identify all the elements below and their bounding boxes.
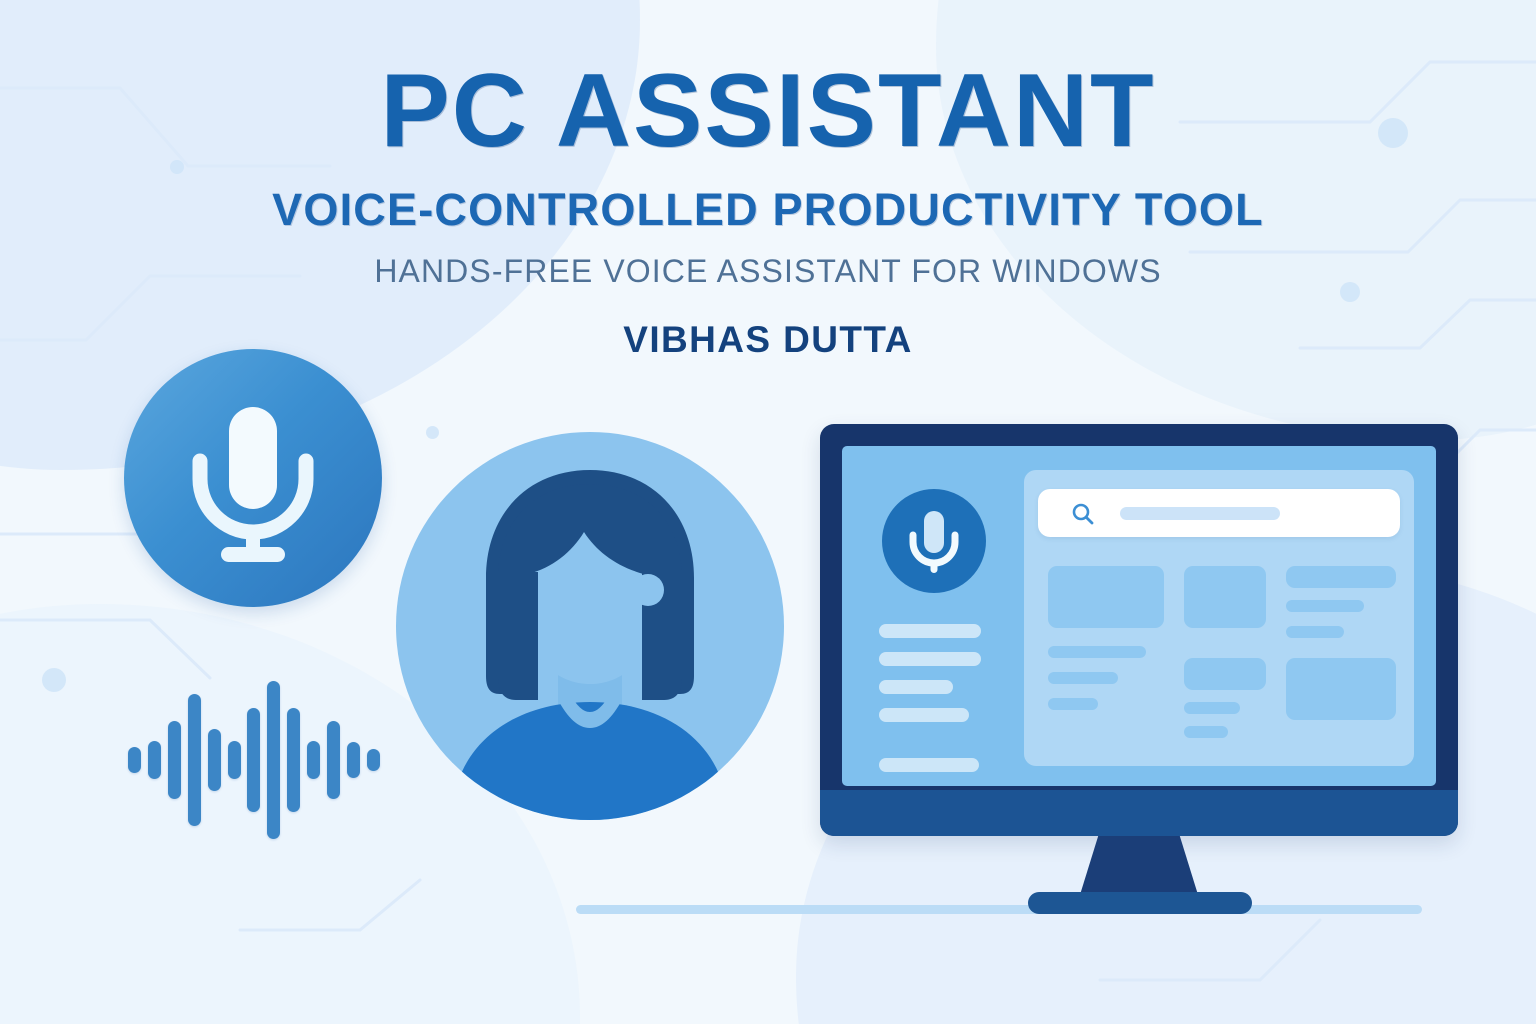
sidebar-menu-line[interactable] — [879, 708, 969, 722]
monitor-illustration — [820, 424, 1458, 914]
page-subtitle: VOICE-CONTROLLED PRODUCTIVITY TOOL — [0, 186, 1536, 233]
user-avatar-icon — [396, 432, 784, 820]
content-card[interactable] — [1184, 566, 1266, 628]
waveform-bar — [327, 721, 340, 799]
monitor-base — [1028, 892, 1252, 914]
content-card[interactable] — [1048, 566, 1164, 628]
content-text-line — [1048, 646, 1146, 658]
poster-canvas: PC ASSISTANT VOICE-CONTROLLED PRODUCTIVI… — [0, 0, 1536, 1024]
content-card[interactable] — [1286, 658, 1396, 720]
sidebar-menu-line[interactable] — [879, 758, 979, 772]
sidebar-menu-line[interactable] — [879, 624, 981, 638]
microphone-icon — [882, 489, 986, 593]
waveform-bar — [168, 721, 181, 799]
author-byline: VIBHAS DUTTA — [0, 321, 1536, 360]
waveform-bar — [208, 729, 221, 791]
page-title: PC ASSISTANT — [0, 58, 1536, 164]
sidebar-menu-line[interactable] — [879, 652, 981, 666]
app-sidebar — [842, 446, 1017, 786]
decor-dot — [42, 668, 66, 692]
search-input[interactable] — [1038, 489, 1400, 537]
waveform-bar — [228, 741, 241, 779]
content-text-line — [1184, 702, 1240, 714]
microphone-badge — [124, 349, 382, 607]
screen-mic-button[interactable] — [882, 489, 986, 593]
avatar — [396, 432, 784, 820]
microphone-icon — [124, 349, 382, 607]
waveform-bar — [307, 741, 320, 779]
waveform-bar — [267, 681, 280, 839]
content-card[interactable] — [1286, 566, 1396, 588]
waveform-bar — [247, 708, 260, 812]
content-text-line — [1286, 600, 1364, 612]
waveform-bar — [347, 742, 360, 778]
waveform-bar — [148, 741, 161, 779]
waveform-bar — [287, 708, 300, 812]
waveform-bar — [128, 747, 141, 773]
monitor-screen — [842, 446, 1436, 786]
sidebar-menu-line[interactable] — [879, 680, 953, 694]
heading-block: PC ASSISTANT VOICE-CONTROLLED PRODUCTIVI… — [0, 58, 1536, 360]
content-card[interactable] — [1184, 658, 1266, 690]
page-tagline: HANDS-FREE VOICE ASSISTANT FOR WINDOWS — [0, 255, 1536, 289]
search-placeholder-bar — [1120, 507, 1280, 520]
monitor-stand — [1079, 836, 1199, 898]
content-text-line — [1184, 726, 1228, 738]
search-icon — [1071, 502, 1095, 531]
waveform-bar — [367, 749, 380, 771]
content-text-line — [1286, 626, 1344, 638]
content-text-line — [1048, 698, 1098, 710]
monitor-bottom-bar — [820, 790, 1458, 836]
content-text-line — [1048, 672, 1118, 684]
audio-waveform — [128, 680, 380, 840]
waveform-bar — [188, 694, 201, 826]
